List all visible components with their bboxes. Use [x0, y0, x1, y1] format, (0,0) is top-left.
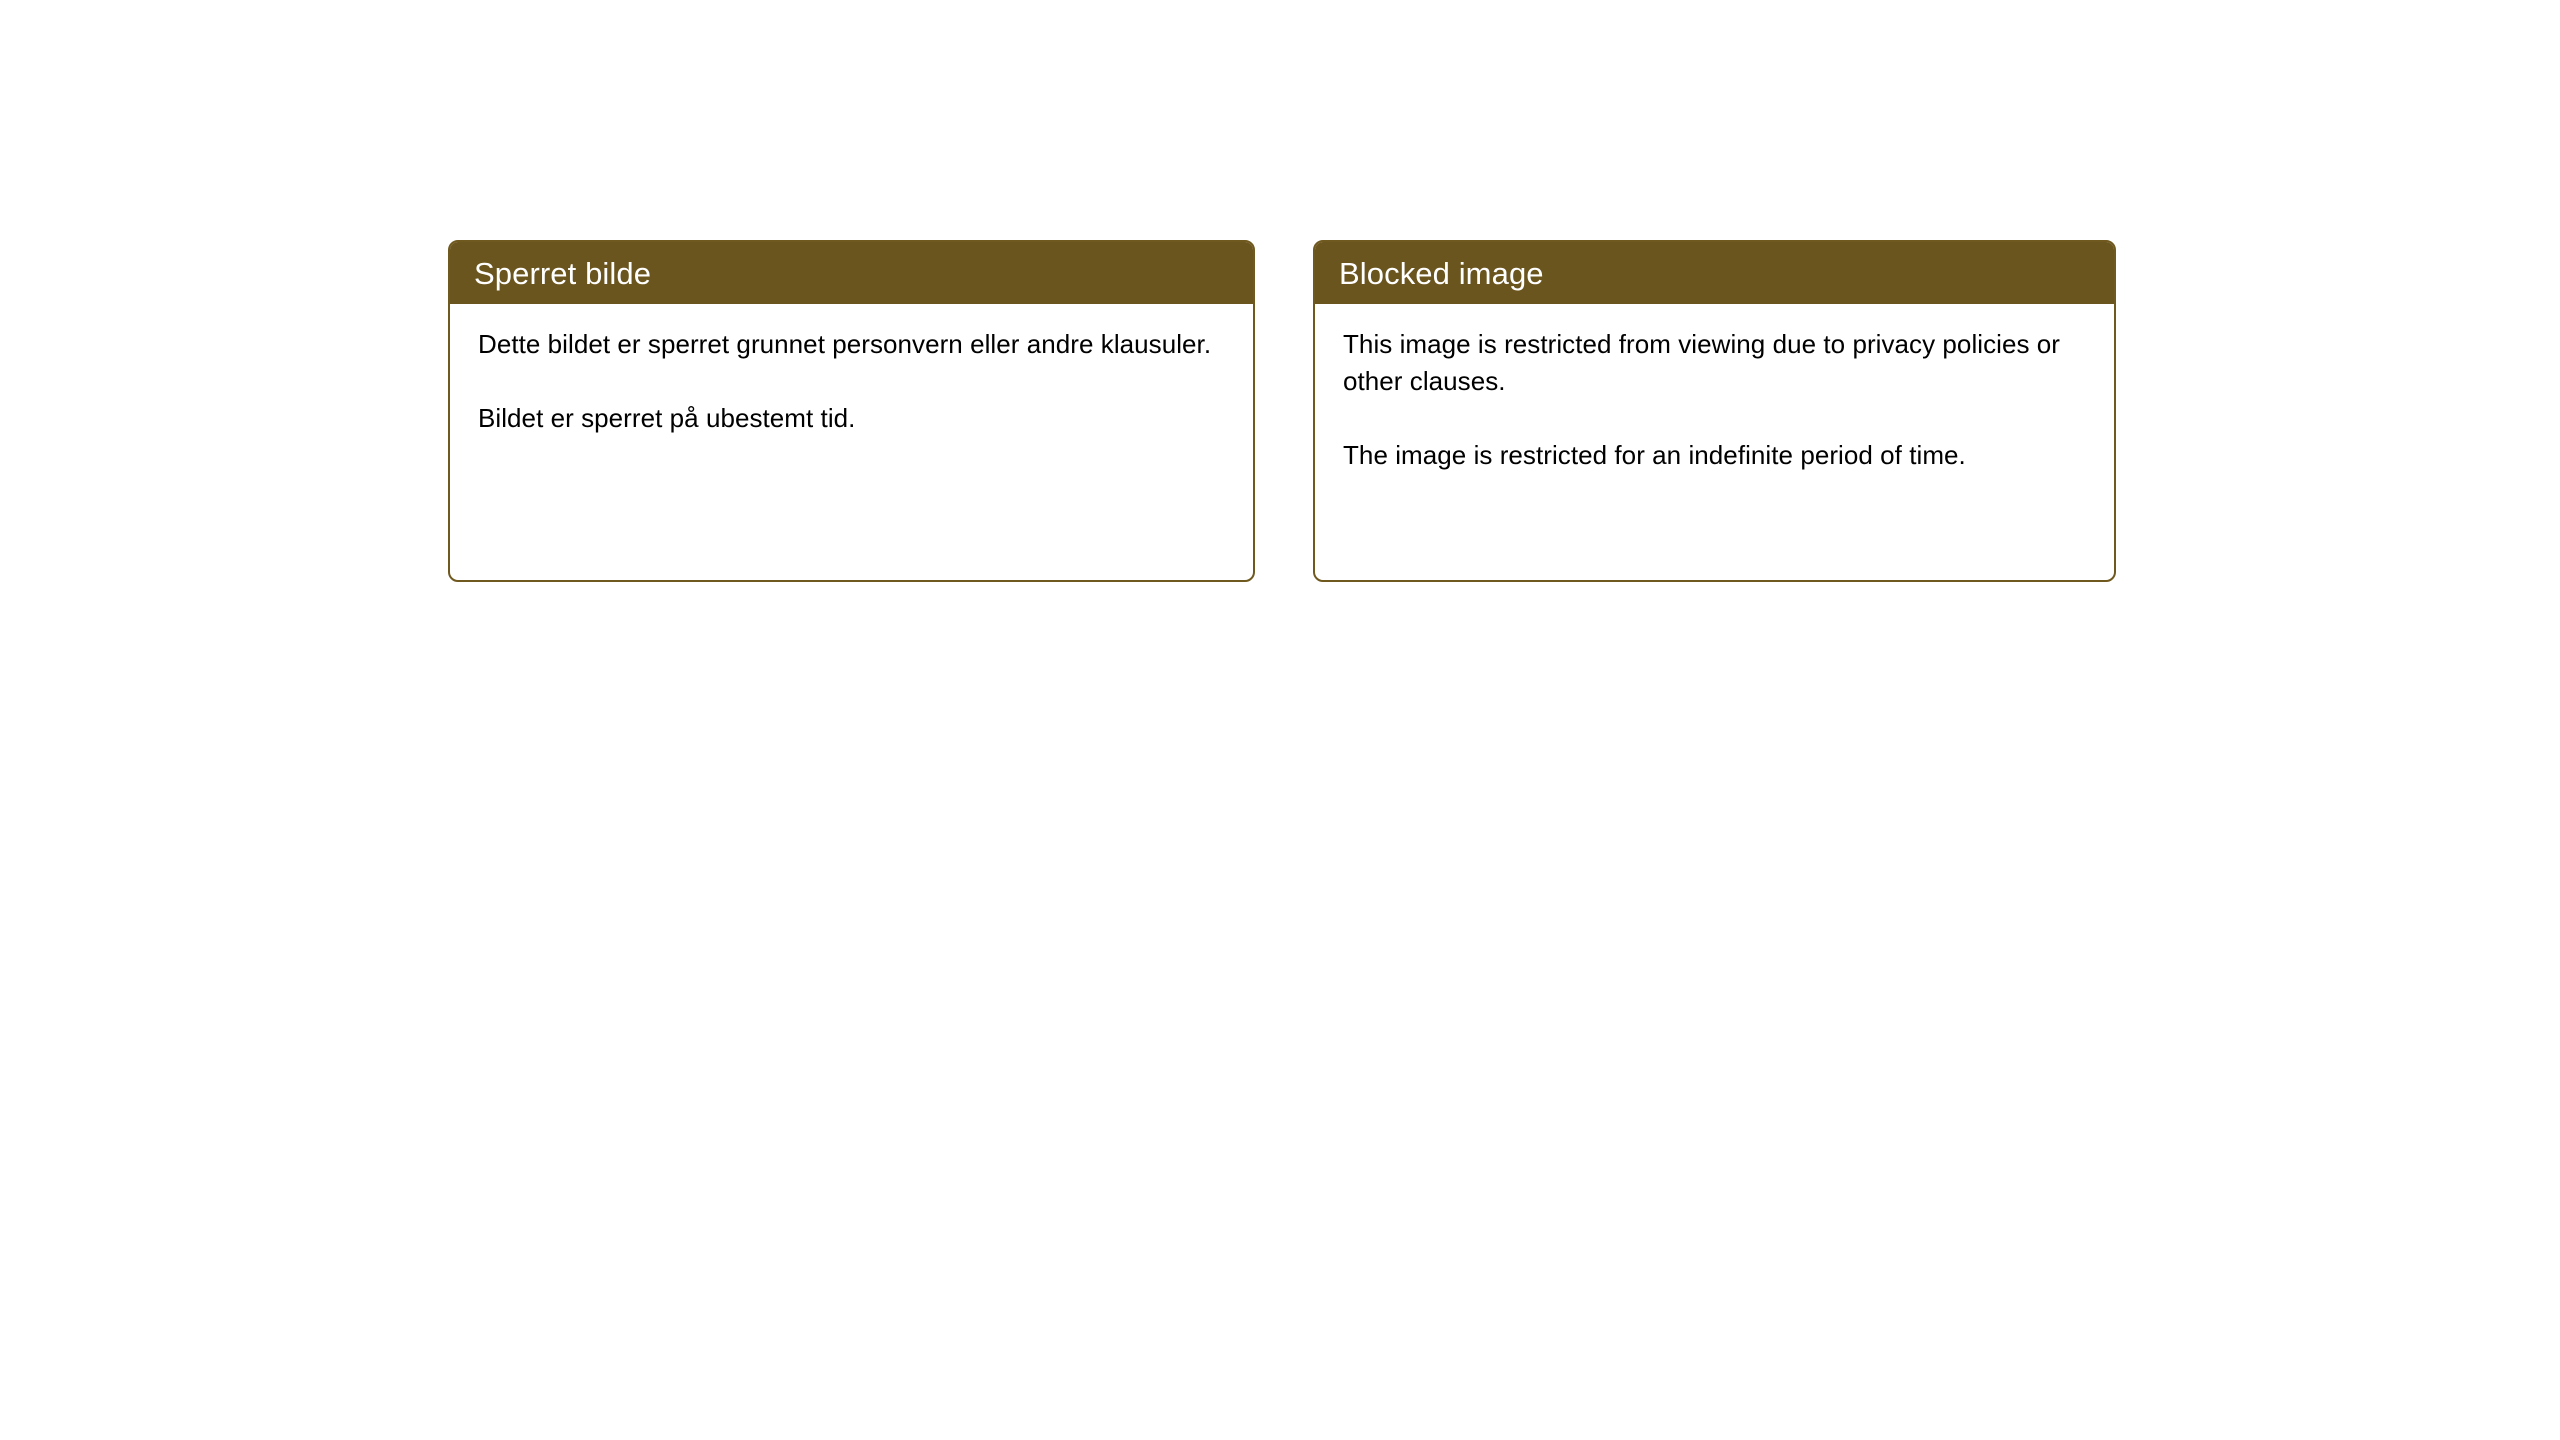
notice-stage: Sperret bilde Dette bildet er sperret gr…: [0, 0, 2560, 1440]
card-paragraph-reason-norwegian: Dette bildet er sperret grunnet personve…: [478, 326, 1227, 363]
card-paragraph-duration-english: The image is restricted for an indefinit…: [1343, 437, 2088, 474]
card-body-english: This image is restricted from viewing du…: [1315, 304, 2114, 474]
blocked-image-card-english: Blocked image This image is restricted f…: [1313, 240, 2116, 582]
card-header-english: Blocked image: [1315, 242, 2114, 304]
card-header-norwegian: Sperret bilde: [450, 242, 1253, 304]
blocked-image-card-norwegian: Sperret bilde Dette bildet er sperret gr…: [448, 240, 1255, 582]
card-body-norwegian: Dette bildet er sperret grunnet personve…: [450, 304, 1253, 437]
card-title-english: Blocked image: [1339, 258, 1544, 289]
card-title-norwegian: Sperret bilde: [474, 258, 651, 289]
card-paragraph-reason-english: This image is restricted from viewing du…: [1343, 326, 2088, 400]
card-paragraph-duration-norwegian: Bildet er sperret på ubestemt tid.: [478, 400, 1227, 437]
